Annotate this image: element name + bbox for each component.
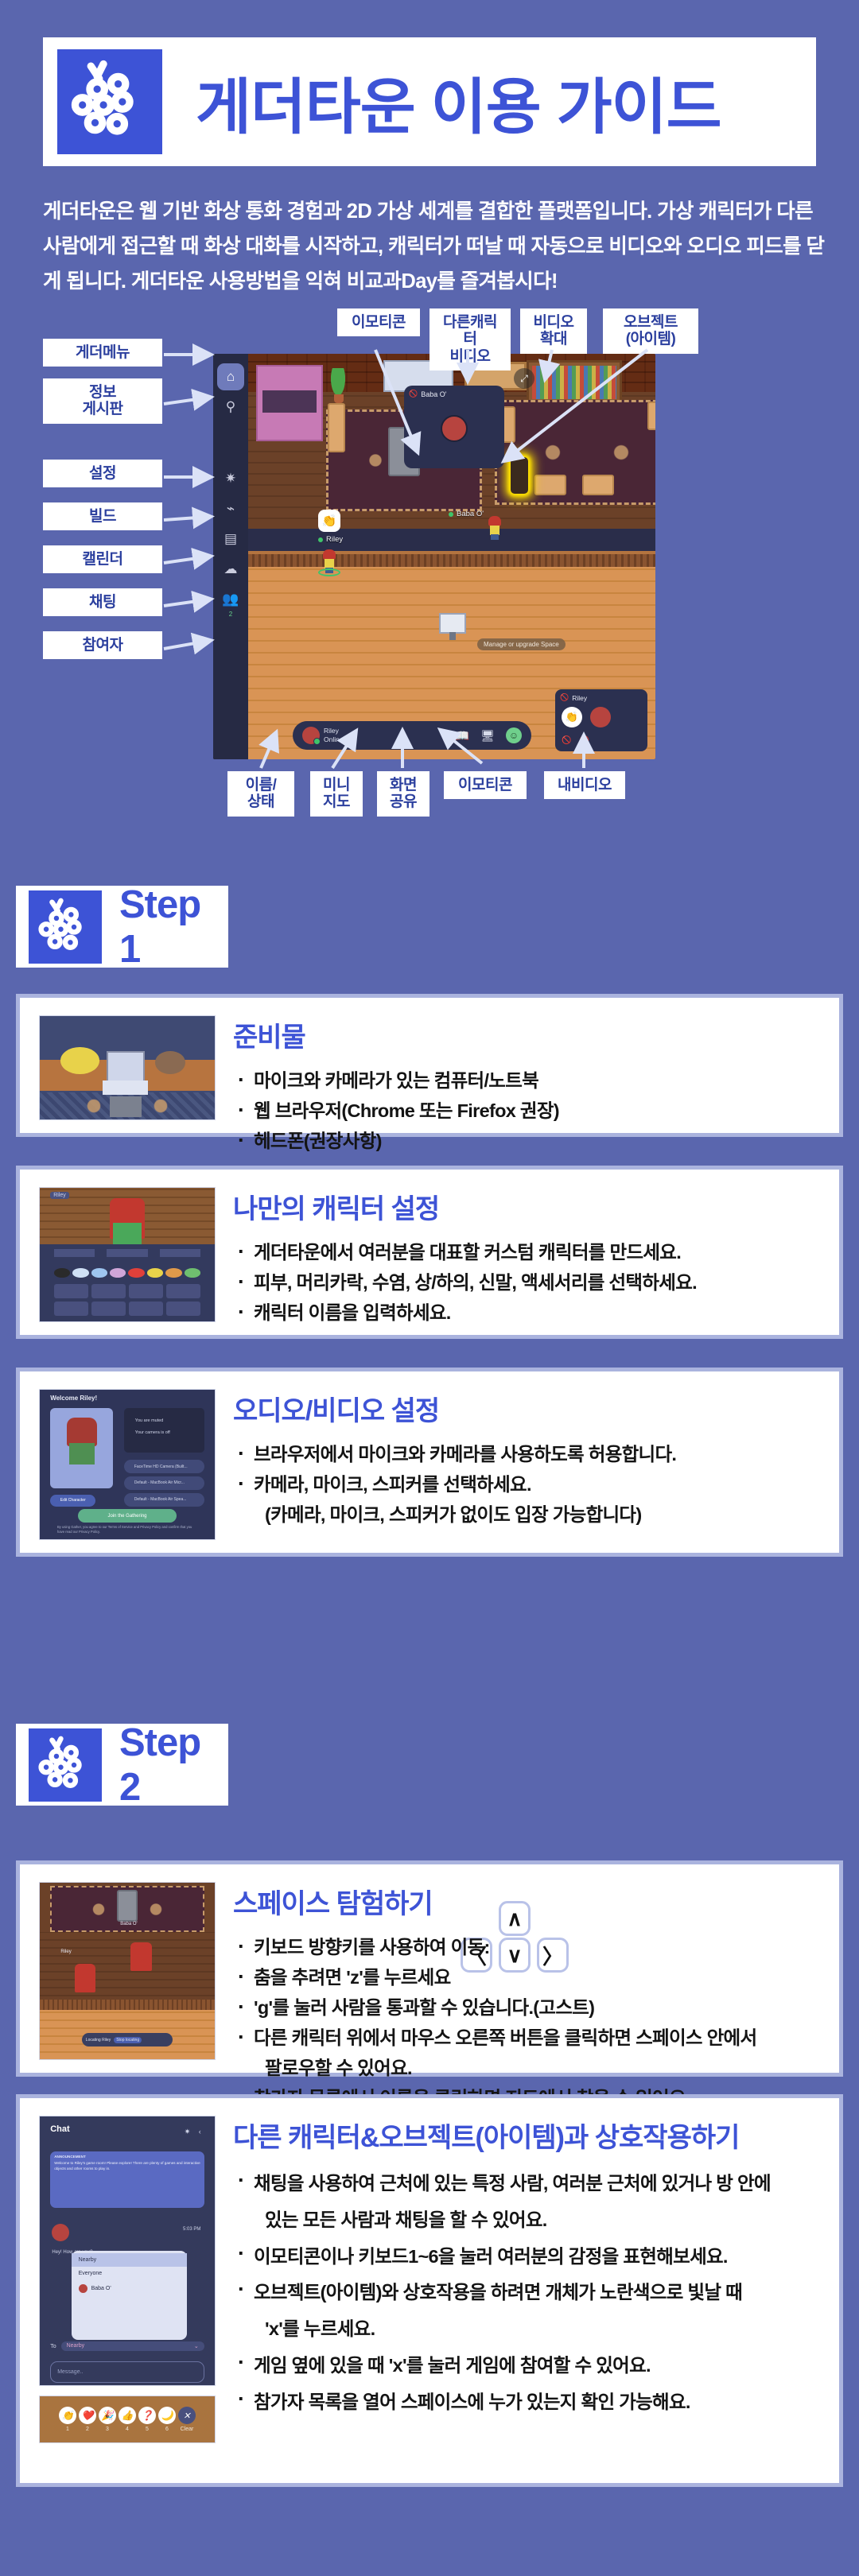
space-explore-thumbnail: Baba O' Riley Locating Riley Stop locati…	[39, 1882, 216, 2060]
emote-3[interactable]: 🎉	[99, 2407, 116, 2424]
app-bottom-toolbar[interactable]: Riley Online 📖 🖥 ☺	[293, 721, 531, 750]
calendar-icon[interactable]: ▤	[217, 526, 244, 553]
list-item: 'g'를 눌러 사람을 통과할 수 있습니다.(고스트)	[233, 1992, 825, 2023]
callout-name-status: 이름/ 상태	[227, 771, 294, 817]
locating-label: Locating Riley	[86, 2038, 111, 2043]
emote-1[interactable]: 👏	[59, 2407, 76, 2424]
bullet-list: 마이크와 카메라가 있는 컴퓨터/노트북 웹 브라우저(Chrome 또는 Fi…	[233, 1065, 825, 1156]
card-interactions: Chat ✷ ‹ ANNOUNCEMENT Welcome to Riley's…	[16, 2094, 843, 2487]
remote-video-name: Baba O'	[421, 390, 446, 398]
chat-timestamp: 5:03 PM	[183, 2227, 200, 2232]
list-item: 춤을 추려면 'z'를 누르세요	[233, 1962, 825, 1992]
list-item: 키보드 방향키를 사용하여 이동:	[233, 1932, 825, 1962]
self-name-status[interactable]: Riley Online	[302, 727, 344, 744]
manage-space-tooltip: Manage or upgrade Space	[477, 638, 566, 650]
announcement-message: ANNOUNCEMENT Welcome to Riley's game roo…	[50, 2151, 204, 2208]
bullet-list: 키보드 방향키를 사용하여 이동: 춤을 추려면 'z'를 누르세요 'g'를 …	[233, 1932, 825, 2113]
to-select: Nearby⌄	[61, 2341, 204, 2351]
emote-key-labels: 1 2 3 4 5 6 Clear	[40, 2427, 215, 2432]
callout-emoticon-bottom: 이모티콘	[444, 771, 527, 799]
list-item: 카메라, 마이크, 스피커를 선택하세요.	[233, 1469, 825, 1499]
page-header: 게더타운 이용 가이드	[43, 37, 816, 166]
emote-4[interactable]: 👍	[119, 2407, 136, 2424]
thumb-camoff-text: Your camera is off	[135, 1430, 170, 1435]
list-item: 브라우저에서 마이크와 카메라를 사용하도록 허용합니다.	[233, 1439, 825, 1469]
list-item: 있는 모든 사람과 채팅을 할 수 있어요.	[233, 2202, 825, 2239]
emote-2[interactable]: ❤️	[79, 2407, 96, 2424]
card-title: 나만의 캐릭터 설정	[233, 1187, 825, 1226]
mic-off-icon: 🚫	[560, 693, 569, 702]
callout-minimap: 미니 지도	[310, 771, 363, 817]
my-avatar	[590, 707, 611, 727]
couch-a	[328, 403, 345, 452]
announcement-label: ANNOUNCEMENT	[54, 2155, 200, 2159]
list-item: 이모티콘이나 키보드1~6을 눌러 여러분의 감정을 표현해보세요.	[233, 2239, 825, 2275]
list-item: 게더타운에서 여러분을 대표할 커스텀 캐릭터를 만드세요.	[233, 1237, 825, 1267]
expand-video-icon[interactable]: ⤢	[514, 368, 534, 389]
couch-f	[647, 402, 655, 430]
kitchen-furniture	[256, 365, 323, 441]
callout-participants: 참여자	[43, 631, 162, 659]
bullet-list: 브라우저에서 마이크와 카메라를 사용하도록 허용합니다. 카메라, 마이크, …	[233, 1439, 825, 1530]
bullet-list: 채팅을 사용하여 근처에 있는 특정 사람, 여러분 근처에 있거나 방 안에 …	[233, 2166, 825, 2421]
online-dot	[449, 512, 453, 517]
gather-app-screenshot: ⌂ ⚲ ✷ ⌁ ▤ ☁ 👥 2	[213, 354, 655, 759]
list-item: 게임 옆에 있을 때 'x'를 눌러 게임에 참여할 수 있어요.	[233, 2348, 825, 2384]
couch-d	[534, 475, 566, 495]
card-prerequisites: 준비물 마이크와 카메라가 있는 컴퓨터/노트북 웹 브라우저(Chrome 또…	[16, 994, 843, 1137]
callout-build: 빌드	[43, 502, 162, 530]
emote-6[interactable]: 🌙	[158, 2407, 176, 2424]
screenshare-icon[interactable]: 🖥	[480, 729, 495, 743]
emote-bubble: 👏	[318, 510, 340, 532]
callout-settings: 설정	[43, 460, 162, 487]
nametag-baba: Baba O'	[449, 510, 484, 518]
callout-chat: 채팅	[43, 588, 162, 616]
participants-icon[interactable]: 👥 2	[217, 586, 244, 613]
card-av-setup: Welcome Riley! You are muted Your camera…	[16, 1368, 843, 1557]
step-2-header: Step 2	[16, 1724, 228, 1806]
microphone-select[interactable]: Default - MacBook Air Micr...	[124, 1476, 204, 1490]
card-title: 다른 캐릭터&오브젝트(아이템)과 상호작용하기	[233, 2116, 825, 2155]
app-map-canvas[interactable]: 🚫 Baba O' ⤢ Baba O' 👏 Riley	[248, 354, 655, 759]
chat-header-icons[interactable]: ✷ ‹	[185, 2128, 204, 2136]
desk-setup-thumbnail	[39, 1015, 216, 1120]
step-2-label: Step 2	[119, 1721, 228, 1810]
self-status: Online	[324, 735, 344, 744]
character-editor-thumbnail: Riley	[39, 1187, 216, 1322]
minimap-icon[interactable]: 📖	[456, 729, 469, 743]
my-emote-avatar: 👏	[562, 707, 582, 727]
remote-video-label: 🚫 Baba O'	[409, 390, 446, 398]
step-1-label: Step 1	[119, 883, 228, 972]
callout-my-video: 내비디오	[544, 771, 625, 799]
participant-count: 2	[229, 611, 232, 618]
stop-locating-button[interactable]: Stop locating	[114, 2037, 142, 2043]
speaker-select[interactable]: Default - MacBook Air Spea...	[124, 1493, 204, 1507]
intro-paragraph: 게더타운은 웹 기반 화상 통화 경험과 2D 가상 세계를 결합한 플랫폼입니…	[43, 195, 830, 300]
list-item: (카메라, 마이크, 스피커가 없이도 입장 가능합니다)	[233, 1499, 825, 1530]
list-item: 피부, 머리카락, 수염, 상/하의, 신말, 액세서리를 선택하세요.	[233, 1267, 825, 1298]
plant-decor	[328, 368, 348, 403]
dropdown-option-nearby[interactable]: Nearby	[72, 2253, 187, 2267]
av-settings-thumbnail: Welcome Riley! You are muted Your camera…	[39, 1389, 216, 1540]
list-item: 다른 캐릭터 위에서 마우스 오른쪽 버튼을 클릭하면 스페이스 안에서	[233, 2023, 825, 2053]
page-title: 게더타운 이용 가이드	[196, 58, 721, 145]
couch-e	[582, 475, 614, 495]
arrow-up-key[interactable]: ∧	[499, 1901, 531, 1936]
my-video-panel[interactable]: 🚫 Riley 👏 🚫🚫	[555, 689, 647, 751]
list-item: 마이크와 카메라가 있는 컴퓨터/노트북	[233, 1065, 825, 1096]
chat-panel-title: Chat	[50, 2124, 69, 2134]
recipient-dropdown[interactable]: Nearby Everyone Baba O'	[72, 2251, 187, 2340]
hammer-icon[interactable]: ⌁	[217, 495, 244, 522]
to-label: To	[50, 2344, 56, 2349]
callout-info-board: 정보 게시판	[43, 378, 162, 424]
callout-video-expand: 비디오 확대	[520, 308, 587, 354]
callout-calendar: 캘린더	[43, 545, 162, 573]
gather-logo-icon	[57, 49, 162, 154]
nametag-riley: Riley	[318, 535, 343, 544]
gather-logo-icon	[29, 890, 102, 964]
annotated-app-diagram: ⌂ ⚲ ✷ ⌁ ▤ ☁ 👥 2	[43, 308, 816, 817]
bullet-list: 게더타운에서 여러분을 대표할 커스텀 캐릭터를 만드세요. 피부, 머리카락,…	[233, 1237, 825, 1328]
chat-panel-thumbnail: Chat ✷ ‹ ANNOUNCEMENT Welcome to Riley's…	[39, 2116, 216, 2470]
list-item: 캐릭터 이름을 입력하세요.	[233, 1298, 825, 1328]
step-1-header: Step 1	[16, 886, 228, 968]
card-character-setup: Riley 나만의 캐릭터 설정 게더타운에서 여러분을 대표할 커스텀 캐릭터…	[16, 1166, 843, 1339]
home-icon[interactable]: ⌂	[217, 363, 244, 390]
list-item: 채팅을 사용하여 근처에 있는 특정 사람, 여러분 근처에 있거나 방 안에	[233, 2166, 825, 2202]
edit-character-button[interactable]: Edit Character	[50, 1495, 95, 1507]
thumb-name-label: Riley	[50, 1192, 69, 1199]
chat-icon[interactable]: ☁	[217, 556, 244, 583]
card-explore-space: Baba O' Riley Locating Riley Stop locati…	[16, 1860, 843, 2077]
chevron-down-icon: ⌄	[194, 2343, 199, 2349]
remote-video-tile[interactable]: 🚫 Baba O'	[404, 386, 504, 468]
callout-emoticon-top: 이모티콘	[337, 308, 420, 336]
list-item: 오브젝트(아이템)와 상호작용을 하려면 개체가 노란색으로 빛날 때	[233, 2275, 825, 2311]
callout-gather-menu: 게더메뉴	[43, 339, 162, 367]
avatar-baba	[487, 516, 503, 540]
chat-message-input[interactable]: Message..	[50, 2361, 204, 2383]
emote-5[interactable]: ❓	[138, 2407, 156, 2424]
gather-logo-icon	[29, 1728, 102, 1802]
gear-icon[interactable]: ✷	[217, 465, 244, 492]
my-video-name: Riley	[572, 694, 587, 702]
emote-clear-button[interactable]: ✕	[178, 2407, 196, 2424]
thumb-muted-text: You are muted	[135, 1418, 164, 1423]
space-sign-object[interactable]	[439, 613, 466, 634]
interactable-object-highlight[interactable]	[511, 457, 528, 494]
thumb-welcome-text: Welcome Riley!	[50, 1395, 97, 1402]
dropdown-option-baba[interactable]: Baba O'	[72, 2280, 187, 2297]
callout-other-character-video: 다른캐릭터 비디오	[429, 308, 511, 370]
list-item: 참가자 목록을 열어 스페이스에 누가 있는지 확인 가능해요.	[233, 2384, 825, 2421]
bookshelf-object	[527, 360, 622, 405]
callout-object-item: 오브젝트 (아이템)	[603, 308, 698, 354]
thumb-terms-text: By using Gather, you agree to our Terms …	[57, 1525, 197, 1535]
mic-off-icon: 🚫	[409, 390, 418, 398]
pin-icon[interactable]: ⚲	[217, 394, 244, 421]
chat-sender-avatar	[52, 2224, 69, 2241]
emote-row[interactable]: 👏 ❤️ 🎉 👍 ❓ 🌙 ✕	[40, 2407, 215, 2424]
join-gathering-button[interactable]: Join the Gathering	[78, 1509, 176, 1523]
app-left-sidebar[interactable]: ⌂ ⚲ ✷ ⌁ ▤ ☁ 👥 2	[213, 354, 248, 759]
callout-screenshare: 화면 공유	[377, 771, 429, 817]
dropdown-option-everyone[interactable]: Everyone	[72, 2267, 187, 2280]
list-item: 헤드폰(권장사항)	[233, 1126, 825, 1156]
self-avatar	[302, 727, 320, 744]
list-item: 팔로우할 수 있어요.	[233, 2053, 825, 2083]
online-dot	[318, 537, 323, 542]
avatar-riley	[321, 549, 337, 573]
railing	[248, 551, 655, 568]
camera-select[interactable]: FaceTime HD Camera (Built...	[124, 1460, 204, 1473]
list-item: 'x'를 누르세요.	[233, 2311, 825, 2348]
thumb-name-baba: Baba O'	[120, 1922, 138, 1926]
list-item: 웹 브라우저(Chrome 또는 Firefox 권장)	[233, 1096, 825, 1126]
chat-to-row[interactable]: To Nearby⌄	[50, 2334, 204, 2358]
announcement-body: Welcome to Riley's game room! Please exp…	[54, 2160, 200, 2171]
card-title: 준비물	[233, 1015, 825, 1054]
emote-bar-thumbnail: 👏 ❤️ 🎉 👍 ❓ 🌙 ✕ 1 2 3 4 5 6	[40, 2396, 215, 2442]
self-name: Riley	[324, 727, 344, 735]
card-title: 오디오/비디오 설정	[233, 1389, 825, 1428]
remote-avatar	[441, 415, 468, 442]
emoticon-icon[interactable]: ☺	[506, 727, 522, 743]
thumb-name-riley: Riley	[60, 1949, 71, 1954]
my-av-status-icons: 🚫🚫	[562, 736, 589, 745]
